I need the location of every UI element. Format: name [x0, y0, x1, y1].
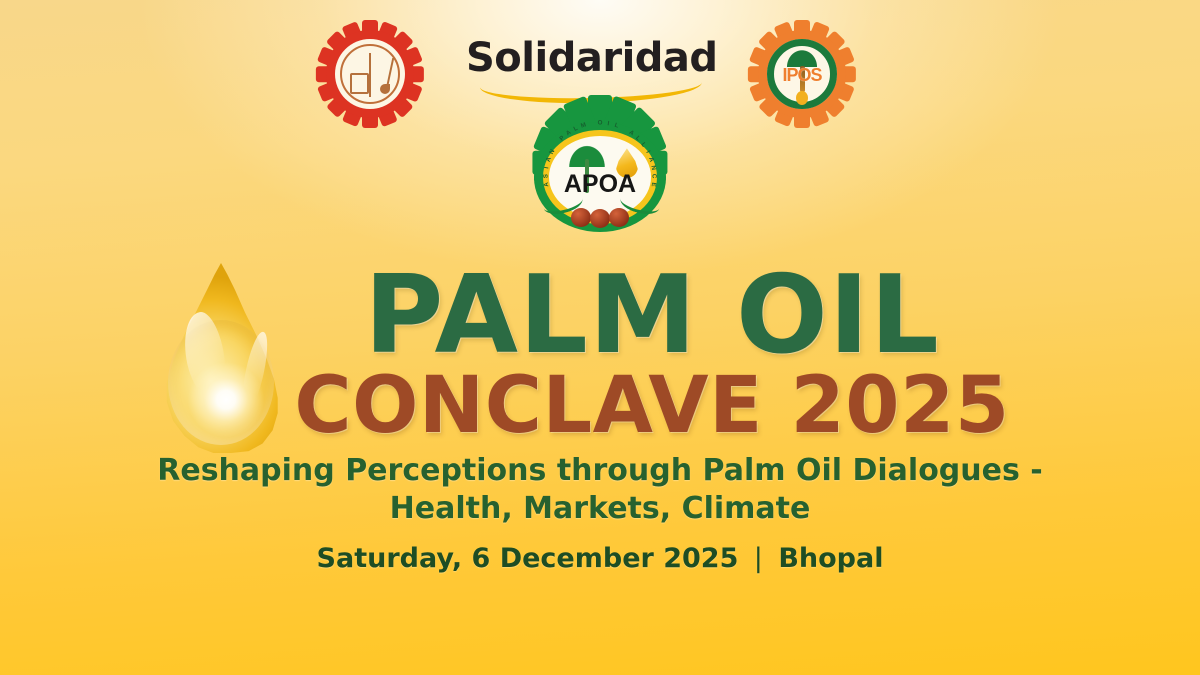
- palm-oil-conclave-poster: Solidaridad IPOS: [0, 0, 1200, 675]
- apoa-ring-char: [553, 142, 560, 148]
- apoa-ring-char: L: [639, 141, 647, 148]
- solidaridad-wordmark: Solidaridad: [466, 38, 716, 78]
- tagline-line-1: Reshaping Perceptions through Palm Oil D…: [157, 453, 1042, 488]
- page-title-secondary: CONCLAVE 2025: [0, 367, 1200, 445]
- logo-row: Solidaridad IPOS: [0, 0, 1200, 140]
- ipos-gear-emblem-icon: IPOS: [750, 22, 854, 126]
- seal-glyphs: [347, 53, 393, 97]
- event-date: Saturday, 6 December 2025: [317, 543, 739, 574]
- apoa-gear-emblem-icon: ASIAN PALM OIL ALLIANCE APOA: [521, 112, 679, 242]
- apoa-ring-char: I: [644, 150, 651, 155]
- apoa-ring-char: A: [545, 156, 553, 162]
- palm-tree-icon: [784, 47, 820, 67]
- apoa-ring-char: N: [649, 165, 657, 171]
- apoa-ring-char: O: [598, 120, 603, 127]
- ipos-acronym: IPOS: [750, 66, 854, 84]
- institute-gear-emblem-icon: [318, 22, 422, 126]
- apoa-ring-char: N: [548, 148, 556, 155]
- apoa-acronym: APOA: [521, 172, 679, 197]
- event-date-location: Saturday, 6 December 2025 | Bhopal: [0, 543, 1200, 574]
- page-title-primary: PALM OIL: [0, 262, 1200, 370]
- tagline-line-2: Health, Markets, Climate: [0, 490, 1200, 528]
- event-location: Bhopal: [778, 543, 883, 574]
- event-tagline: Reshaping Perceptions through Palm Oil D…: [0, 452, 1200, 529]
- palm-fruits-icon: [571, 208, 629, 228]
- apoa-ring-char: A: [647, 156, 655, 162]
- apoa-ring-char: I: [543, 166, 550, 169]
- event-separator: |: [748, 543, 769, 574]
